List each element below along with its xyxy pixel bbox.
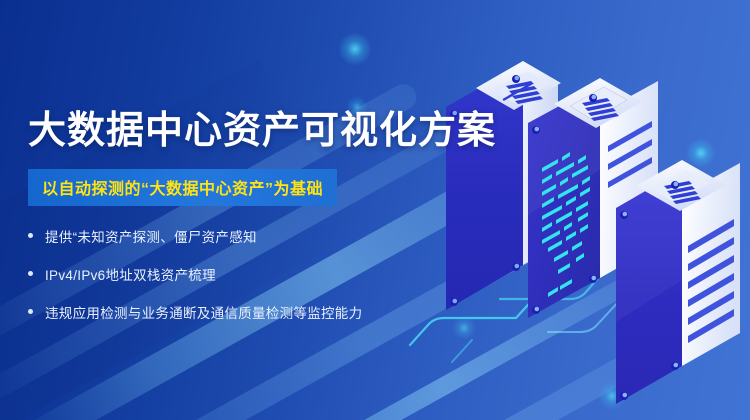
list-item-label: IPv4/IPv6地址双栈资产梳理 bbox=[45, 264, 216, 284]
bullet-dot-icon bbox=[28, 309, 33, 314]
bullet-dot-icon bbox=[28, 271, 33, 276]
feature-list: 提供“未知资产探测、僵尸资产感知 IPv4/IPv6地址双栈资产梳理 违规应用检… bbox=[28, 226, 458, 322]
list-item: 提供“未知资产探测、僵尸资产感知 bbox=[28, 226, 458, 246]
page-title: 大数据中心资产可视化方案 bbox=[28, 112, 458, 152]
list-item: 违规应用检测与业务通断及通信质量检测等监控能力 bbox=[28, 302, 458, 322]
bullet-dot-icon bbox=[28, 233, 33, 238]
glow-dot bbox=[338, 32, 372, 66]
list-item: IPv4/IPv6地址双栈资产梳理 bbox=[28, 264, 458, 284]
subtitle-badge: 以自动探测的“大数据中心资产”为基础 bbox=[28, 169, 337, 206]
banner-root: 大数据中心资产可视化方案 以自动探测的“大数据中心资产”为基础 提供“未知资产探… bbox=[0, 0, 750, 420]
server-racks-illustration bbox=[430, 50, 750, 420]
list-item-label: 提供“未知资产探测、僵尸资产感知 bbox=[45, 226, 257, 246]
text-content: 大数据中心资产可视化方案 以自动探测的“大数据中心资产”为基础 提供“未知资产探… bbox=[28, 112, 458, 340]
list-item-label: 违规应用检测与业务通断及通信质量检测等监控能力 bbox=[45, 302, 362, 322]
